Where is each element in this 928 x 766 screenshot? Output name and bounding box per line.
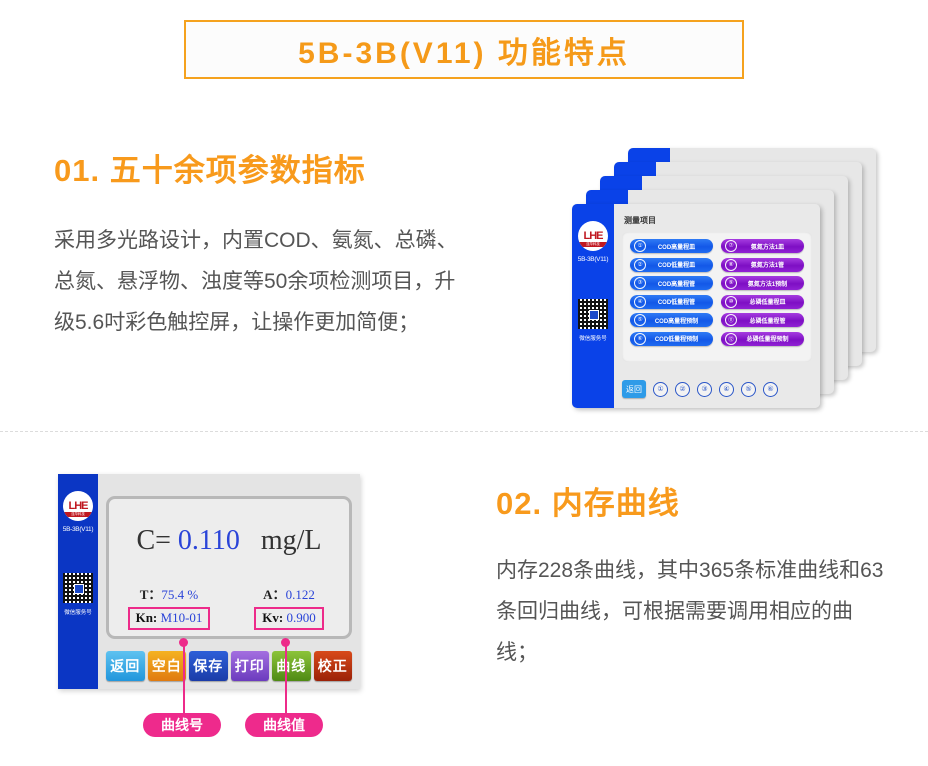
menu-item[interactable]: ②COD低量程皿 <box>630 258 713 272</box>
curve-value-value: 0.900 <box>286 610 315 625</box>
menu-item[interactable]: ⑨氨氮方法1预制 <box>721 276 804 290</box>
device-2: LHE 连华科技 5B-3B(V11) 微信服务号 C= 0.110 mg/L … <box>58 474 360 689</box>
curve-number-label: Kn: <box>136 610 158 625</box>
section-2-heading: 02. 内存曲线 <box>496 478 680 523</box>
menu-item-number: ⑨ <box>725 277 737 289</box>
menu-item-label: COD高量程预制 <box>646 316 713 325</box>
measurement-readout-panel: C= 0.110 mg/L T：75.4 % A：0.122 Kn: M10-0… <box>106 496 352 639</box>
device-2-sidebar: LHE 连华科技 5B-3B(V11) 微信服务号 <box>58 474 98 689</box>
transmittance-value: 75.4 % <box>161 587 198 602</box>
menu-item[interactable]: ⑦氨氮方法1皿 <box>721 239 804 253</box>
absorbance-label: A： <box>263 587 285 602</box>
brand-logo-subtext: 连华科技 <box>578 242 608 247</box>
menu-item-label: COD高量程皿 <box>646 242 713 251</box>
callout-label-curve-number: 曲线号 <box>143 713 221 737</box>
menu-item-label: 总磷低量程预制 <box>737 334 804 343</box>
back-button[interactable]: 返回 <box>106 651 145 681</box>
section-1-body: 采用多光路设计，内置COD、氨氮、总磷、总氮、悬浮物、浊度等50余项检测项目，升… <box>54 220 460 343</box>
curve-number-cell: Kn: M10-01 <box>109 607 229 630</box>
curve-value-highlight[interactable]: Kv: 0.900 <box>254 607 323 630</box>
page-indicator-5[interactable]: ⑤ <box>741 382 756 397</box>
menu-item[interactable]: ⑩总磷低量程皿 <box>721 295 804 309</box>
brand-logo-text: LHE <box>584 231 603 242</box>
menu-item[interactable]: ⑥COD低量程预制 <box>630 332 713 346</box>
page-indicator-3[interactable]: ③ <box>697 382 712 397</box>
concentration-unit: mg/L <box>261 525 322 556</box>
secondary-readout-row: T：75.4 % A：0.122 <box>109 584 349 603</box>
curve-value-label: Kv: <box>262 610 283 625</box>
menu-item[interactable]: ⑤COD高量程预制 <box>630 313 713 327</box>
device-1-front-screen: LHE 连华科技 5B-3B(V11) 微信服务号 测量项目 ①COD高量程皿 … <box>572 204 820 408</box>
menu-item-number: ⑤ <box>634 314 646 326</box>
menu-item-number: ⑪ <box>725 314 737 326</box>
device-2-button-bar: 返回 空白 保存 打印 曲线 校正 <box>106 651 352 681</box>
page-indicator-2[interactable]: ② <box>675 382 690 397</box>
page-title: 5B-3B(V11) 功能特点 <box>298 28 630 72</box>
menu-item-number: ⑫ <box>725 333 737 345</box>
calibrate-button[interactable]: 校正 <box>314 651 353 681</box>
menu-item-label: 氨氮方法1皿 <box>737 242 804 251</box>
menu-item[interactable]: ①COD高量程皿 <box>630 239 713 253</box>
page-indicator-4[interactable]: ④ <box>719 382 734 397</box>
menu-item-number: ⑥ <box>634 333 646 345</box>
section-2-body: 内存228条曲线，其中365条标准曲线和63条回归曲线，可根据需要调用相应的曲线… <box>496 550 886 673</box>
curve-button[interactable]: 曲线 <box>272 651 311 681</box>
device-1-wechat-label: 微信服务号 <box>579 334 607 342</box>
blank-button[interactable]: 空白 <box>148 651 187 681</box>
menu-item-label: 总磷低量程管 <box>737 316 804 325</box>
transmittance-label: T： <box>140 587 162 602</box>
menu-item-label: 氨氮方法1预制 <box>737 279 804 288</box>
menu-item-number: ③ <box>634 277 646 289</box>
callout-line-curve-number <box>183 645 185 720</box>
concentration-label: C= <box>136 525 170 556</box>
brand-logo-icon: LHE 连华科技 <box>578 221 608 251</box>
device-1-sidebar: LHE 连华科技 5B-3B(V11) 微信服务号 <box>572 204 614 408</box>
menu-item-label: COD低量程皿 <box>646 260 713 269</box>
curve-value-cell: Kv: 0.900 <box>229 607 349 630</box>
section-1-heading: 01. 五十余项参数指标 <box>54 145 366 190</box>
menu-item-label: COD低量程管 <box>646 297 713 306</box>
page-root: 5B-3B(V11) 功能特点 01. 五十余项参数指标 采用多光路设计，内置C… <box>0 0 928 766</box>
device-1-nav-bar: 返回 ① ② ③ ④ ⑤ ⑥ <box>622 380 778 398</box>
brand-logo-text: LHE <box>69 501 88 512</box>
menu-item-number: ④ <box>634 296 646 308</box>
device-2-screen: C= 0.110 mg/L T：75.4 % A：0.122 Kn: M10-0… <box>98 474 360 689</box>
menu-item-number: ⑦ <box>725 240 737 252</box>
menu-item-number: ⑩ <box>725 296 737 308</box>
curve-number-highlight[interactable]: Kn: M10-01 <box>128 607 211 630</box>
device-2-model-label: 5B-3B(V11) <box>63 526 93 533</box>
absorbance-readout: A：0.122 <box>229 584 349 603</box>
curve-readout-row: Kn: M10-01 Kv: 0.900 <box>109 607 349 630</box>
device-2-wechat-label: 微信服务号 <box>64 608 92 616</box>
callout-line-curve-value <box>285 645 287 720</box>
page-title-box: 5B-3B(V11) 功能特点 <box>184 20 744 79</box>
absorbance-value: 0.122 <box>286 587 315 602</box>
menu-item-number: ⑧ <box>725 259 737 271</box>
back-button[interactable]: 返回 <box>622 380 646 398</box>
concentration-readout: C= 0.110 mg/L <box>109 525 349 557</box>
menu-item[interactable]: ③COD高量程管 <box>630 276 713 290</box>
device-1-screen-title: 测量项目 <box>624 215 656 226</box>
menu-item-label: 总磷低量程皿 <box>737 297 804 306</box>
menu-item-label: COD低量程预制 <box>646 334 713 343</box>
menu-item-label: COD高量程管 <box>646 279 713 288</box>
menu-item[interactable]: ⑪总磷低量程管 <box>721 313 804 327</box>
menu-item[interactable]: ⑧氨氮方法1管 <box>721 258 804 272</box>
menu-item-label: 氨氮方法1管 <box>737 260 804 269</box>
qr-code-icon <box>578 299 608 329</box>
device-1-model-label: 5B-3B(V11) <box>578 256 608 263</box>
concentration-value: 0.110 <box>178 525 240 556</box>
menu-item[interactable]: ⑫总磷低量程预制 <box>721 332 804 346</box>
measurement-items-panel: ①COD高量程皿 ②COD低量程皿 ③COD高量程管 ④COD低量程管 ⑤COD… <box>622 232 812 362</box>
section-divider <box>0 431 928 432</box>
print-button[interactable]: 打印 <box>231 651 270 681</box>
qr-code-icon <box>63 573 93 603</box>
transmittance-readout: T：75.4 % <box>109 584 229 603</box>
menu-item-number: ① <box>634 240 646 252</box>
brand-logo-icon: LHE 连华科技 <box>63 491 93 521</box>
page-indicator-6[interactable]: ⑥ <box>763 382 778 397</box>
brand-logo-subtext: 连华科技 <box>63 512 93 517</box>
curve-number-value: M10-01 <box>161 610 203 625</box>
device-2-topbar <box>98 474 360 494</box>
menu-item[interactable]: ④COD低量程管 <box>630 295 713 309</box>
menu-column-right: ⑦氨氮方法1皿 ⑧氨氮方法1管 ⑨氨氮方法1预制 ⑩总磷低量程皿 ⑪总磷低量程管… <box>721 239 804 355</box>
menu-item-number: ② <box>634 259 646 271</box>
device-1-screen: 测量项目 ①COD高量程皿 ②COD低量程皿 ③COD高量程管 ④COD低量程管… <box>614 204 820 408</box>
callout-label-curve-value: 曲线值 <box>245 713 323 737</box>
menu-column-left: ①COD高量程皿 ②COD低量程皿 ③COD高量程管 ④COD低量程管 ⑤COD… <box>630 239 713 355</box>
page-indicator-1[interactable]: ① <box>653 382 668 397</box>
save-button[interactable]: 保存 <box>189 651 228 681</box>
device-1-stack: LHE 连华科技 5B-3B(V11) 微信服务号 测量项目 ①COD高量程皿 … <box>572 148 892 408</box>
